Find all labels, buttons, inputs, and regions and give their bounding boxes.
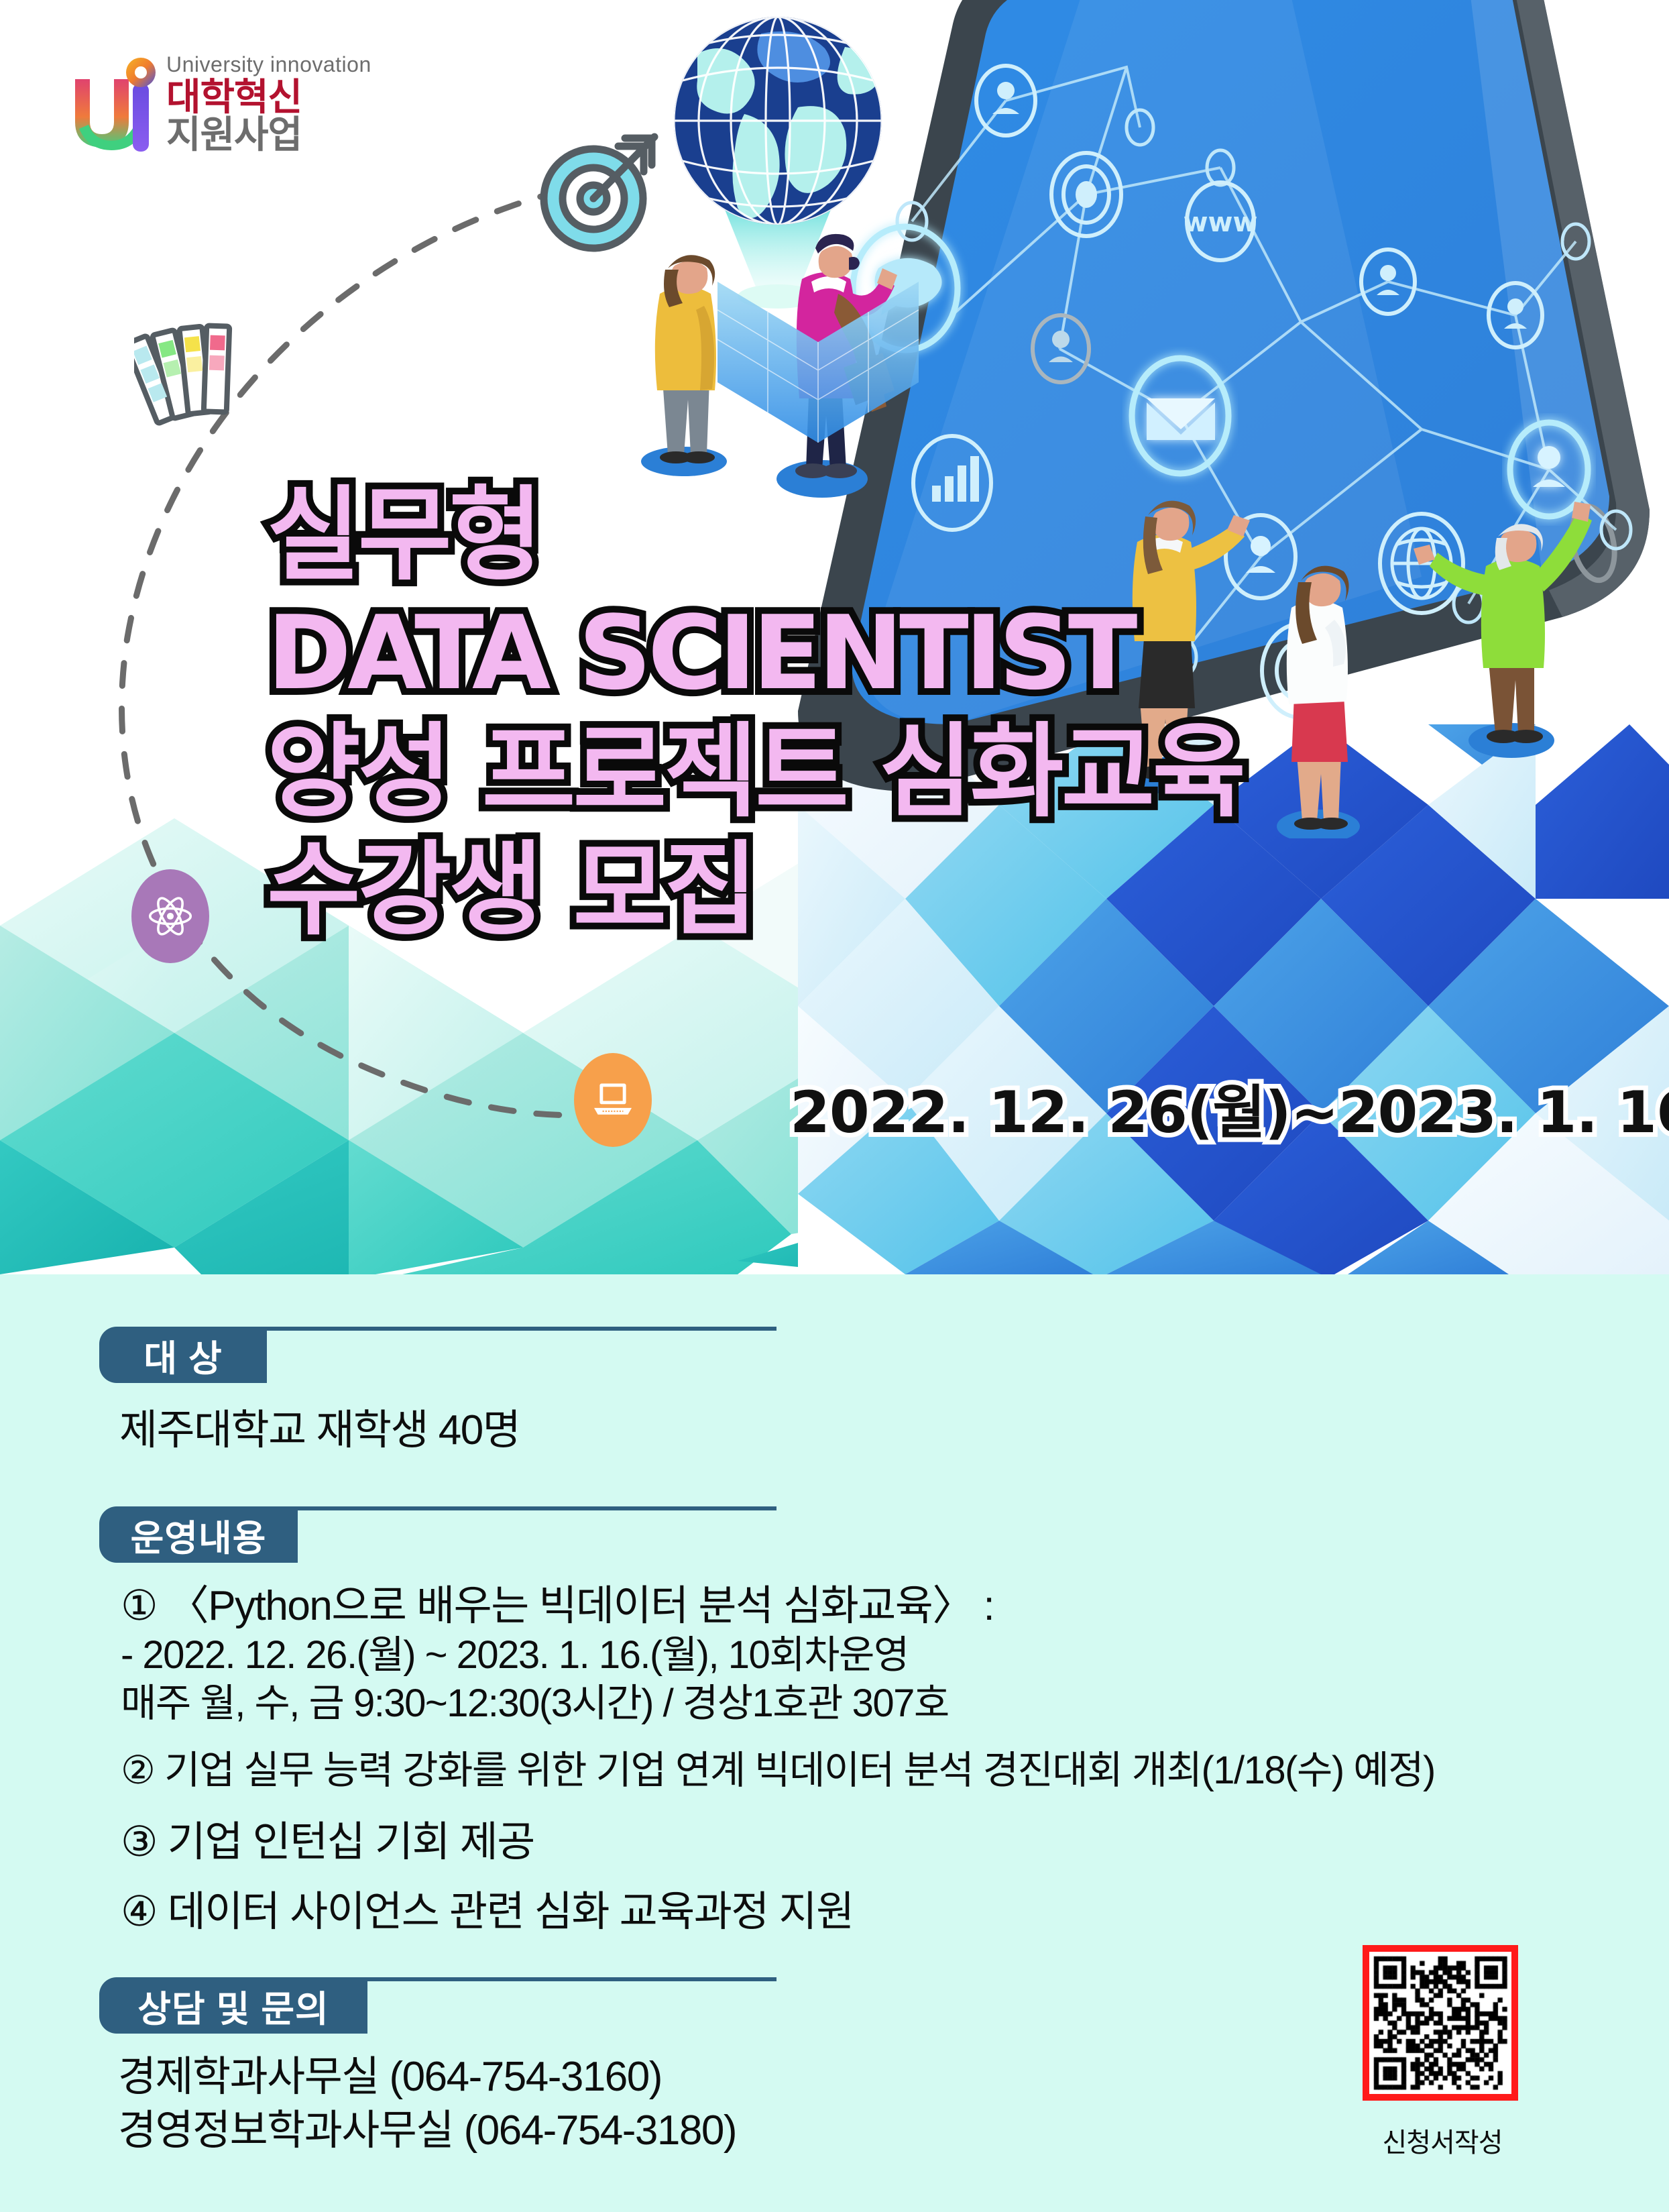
isometric-platform — [711, 275, 925, 476]
section-badge-contact: 상담 및 문의 — [99, 1977, 367, 2034]
section-rule-contact — [367, 1977, 776, 1981]
logo-english-text: University innovation — [166, 52, 371, 77]
qr-code-image — [1369, 1952, 1511, 2094]
logo-korean-line1: 대학혁신 — [166, 78, 371, 116]
poster-root: www — [0, 0, 1669, 2212]
section-rule-program-content — [298, 1506, 776, 1510]
main-title: 실무형 DATA SCIENTIST 양성 프로젝트 심화교육 수강생 모집 — [267, 476, 1407, 949]
ui-logo-mark — [64, 58, 165, 156]
program-line-5: ③ 기업 인턴십 기회 제공 — [121, 1812, 534, 1873]
event-date-range: 2022. 12. 26(월)~2023. 1. 16(월) — [790, 1065, 1669, 1149]
logo: University innovation 대학혁신 지원사업 — [64, 52, 359, 160]
program-line-3: 매주 월, 수, 금 9:30~12:30(3시간) / 경상1호관 307호 — [121, 1675, 949, 1732]
laptop-icon — [574, 1053, 652, 1147]
section-badge-target-audience: 대 상 — [99, 1327, 267, 1383]
atom-icon — [131, 869, 209, 963]
title-line-2: DATA SCIENTIST — [267, 594, 1407, 712]
title-line-4: 수강생 모집 — [267, 831, 1407, 949]
qr-code[interactable] — [1363, 1945, 1518, 2101]
contact-line-2: 경영정보학과사무실 (064-754-3180) — [118, 2101, 736, 2162]
section-badge-program-content: 운영내용 — [99, 1506, 298, 1563]
title-line-3: 양성 프로젝트 심화교육 — [267, 713, 1407, 831]
color-swatch-icon — [134, 309, 262, 436]
contact-line-1: 경제학과사무실 (064-754-3160) — [118, 2047, 662, 2108]
hero-illustration: www — [0, 0, 1669, 1274]
qr-code-caption: 신청서작성 — [1345, 2121, 1540, 2160]
program-line-6: ④ 데이터 사이언스 관련 심화 교육과정 지원 — [121, 1882, 854, 1943]
section-rule-target-audience — [267, 1327, 776, 1331]
logo-korean-line2: 지원사업 — [166, 116, 371, 154]
svg-text:www: www — [1184, 207, 1258, 238]
program-line-4: ② 기업 실무 능력 강화를 위한 기업 연계 빅데이터 분석 경진대회 개최(… — [121, 1743, 1435, 1800]
title-line-1: 실무형 — [267, 476, 1407, 594]
section-program-content: 운영내용 ① 〈Python으로 배우는 빅데이터 분석 심화교육〉 : - 2… — [0, 1501, 1669, 1563]
target-audience-line-1: 제주대학교 재학생 40명 — [119, 1400, 520, 1461]
section-target-audience: 대 상 제주대학교 재학생 40명 — [0, 1321, 1669, 1383]
